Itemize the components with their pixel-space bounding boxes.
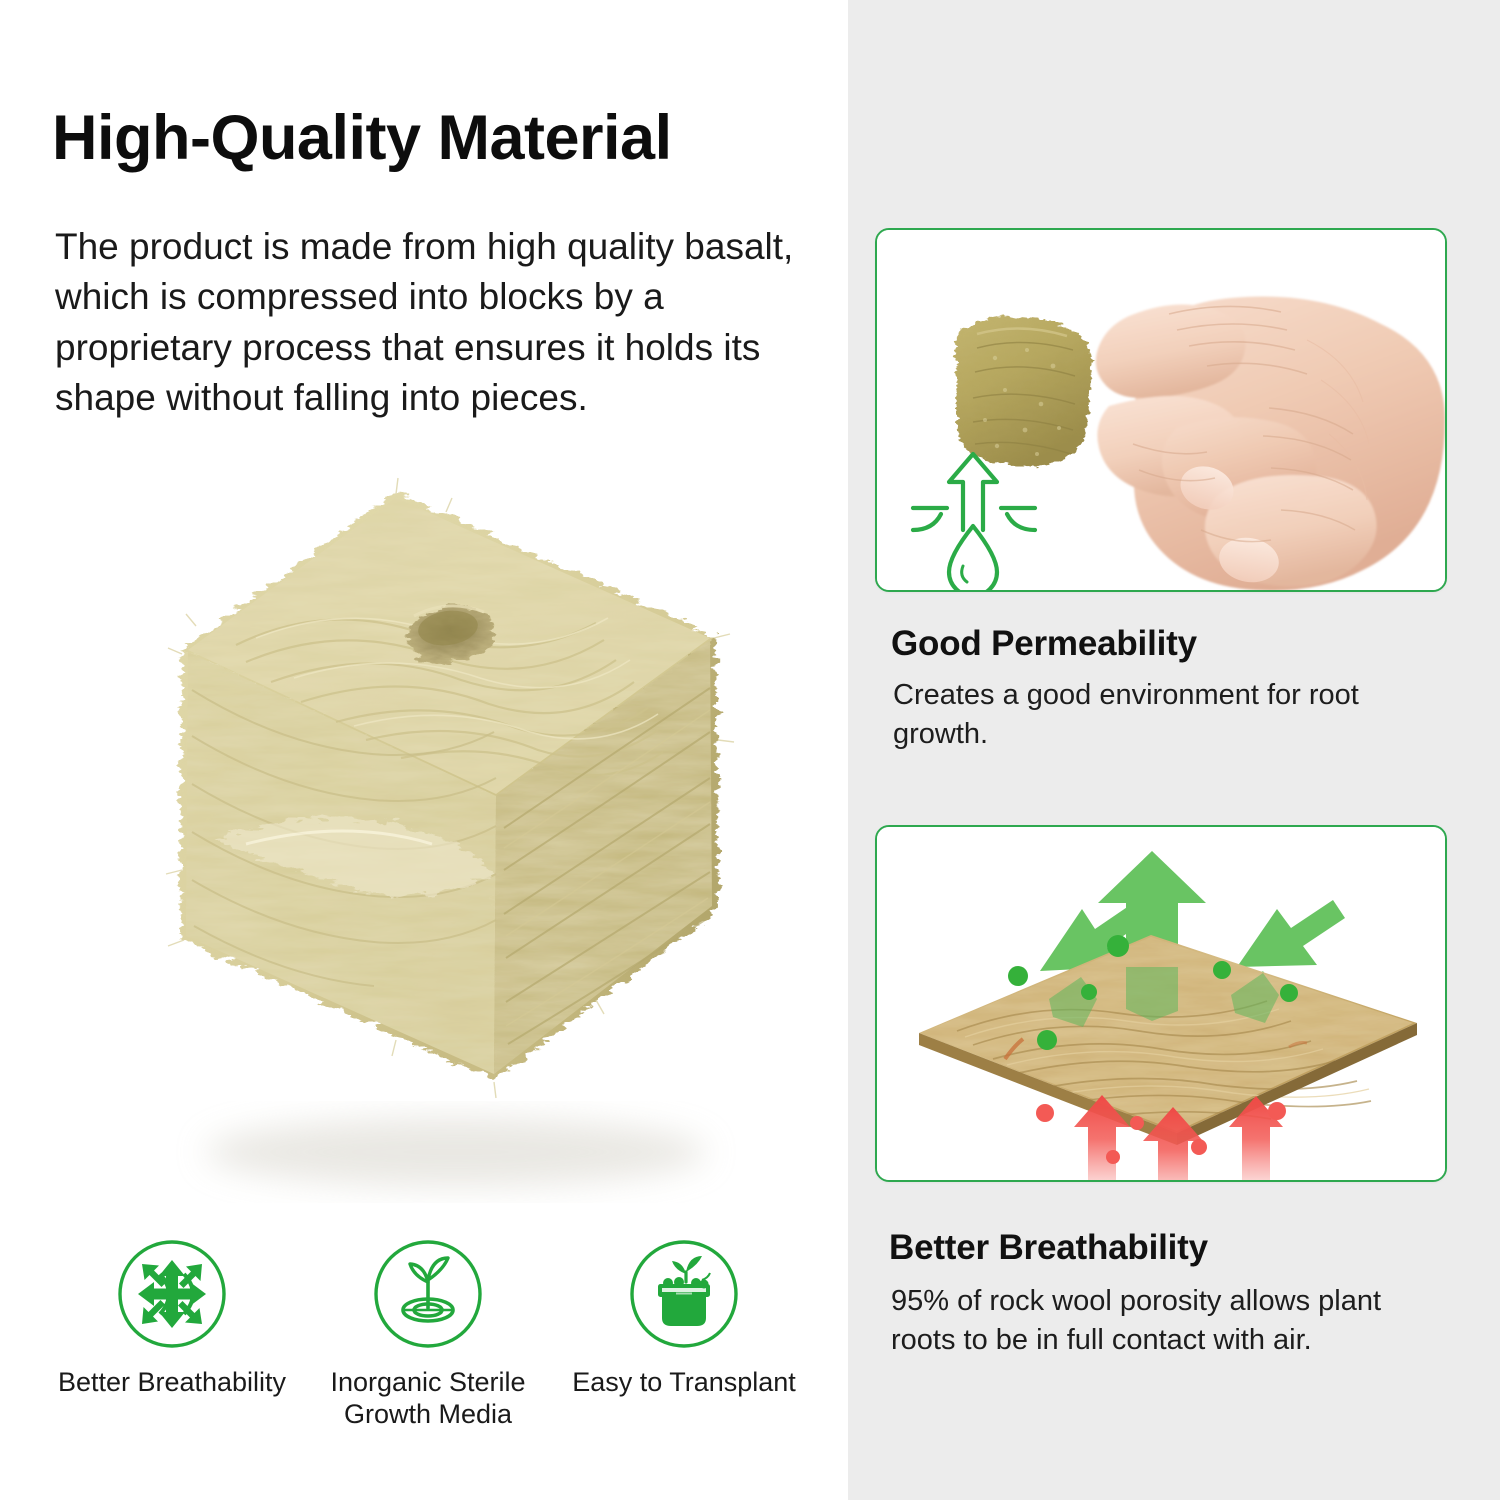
- intro-paragraph: The product is made from high quality ba…: [55, 222, 815, 423]
- plant-pot-icon: [628, 1238, 740, 1350]
- feature-icon-row: Better Breathability: [30, 1238, 820, 1478]
- rockwool-slab-airflow-illustration: [875, 825, 1447, 1182]
- feature-label: Better Breathability: [42, 1366, 302, 1398]
- seedling-sprout-icon: [372, 1238, 484, 1350]
- hand-holding-rockwool-cube-photo: [875, 228, 1447, 592]
- page-title: High-Quality Material: [52, 104, 842, 172]
- feature-desc-breathability: 95% of rock wool porosity allows plant r…: [891, 1282, 1431, 1359]
- feature-label: Inorganic Sterile Growth Media: [298, 1366, 558, 1431]
- feature-title-permeability: Good Permeability: [891, 624, 1451, 664]
- multi-direction-arrows-icon: [116, 1238, 228, 1350]
- feature-item-transplant: Easy to Transplant: [554, 1238, 814, 1398]
- feature-item-breathability: Better Breathability: [42, 1238, 302, 1398]
- feature-label: Easy to Transplant: [554, 1366, 814, 1398]
- feature-desc-permeability: Creates a good environment for root grow…: [893, 676, 1413, 753]
- rockwool-cube-photo: [96, 440, 786, 1210]
- infographic-page: High-Quality Material The product is mad…: [0, 0, 1500, 1500]
- feature-title-breathability: Better Breathability: [889, 1228, 1449, 1268]
- feature-item-sterile-media: Inorganic Sterile Growth Media: [298, 1238, 558, 1431]
